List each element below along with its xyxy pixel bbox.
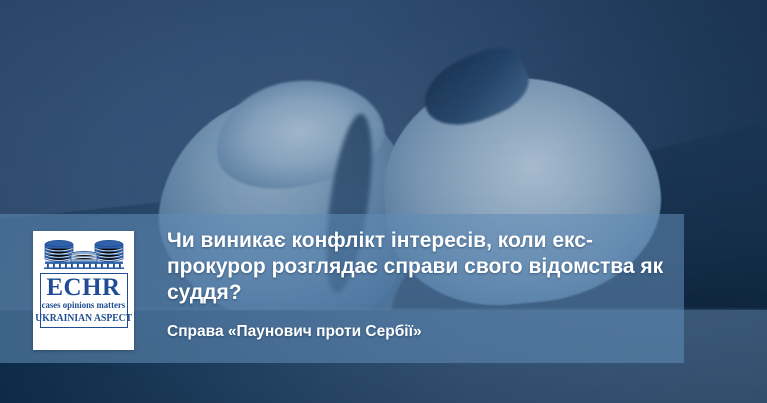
echr-news-banner: ECHR cases opinions matters UKRAINIAN AS…: [0, 0, 767, 403]
case-subtitle: Справа «Паунович проти Сербії»: [167, 322, 667, 341]
echr-logo[interactable]: ECHR cases opinions matters UKRAINIAN AS…: [33, 231, 134, 350]
logo-textbox: ECHR cases opinions matters UKRAINIAN AS…: [40, 273, 128, 328]
logo-tagline: cases opinions matters: [42, 301, 126, 312]
logo-inner: ECHR cases opinions matters UKRAINIAN AS…: [38, 236, 129, 344]
caption-text-block: Чи виникає конфлікт інтересів, коли екс-…: [167, 228, 667, 341]
logo-aspect-label: UKRAINIAN ASPECT: [35, 313, 132, 325]
echr-building-icon: [41, 237, 127, 271]
logo-acronym: ECHR: [46, 275, 120, 300]
headline: Чи виникає конфлікт інтересів, коли екс-…: [167, 228, 667, 306]
